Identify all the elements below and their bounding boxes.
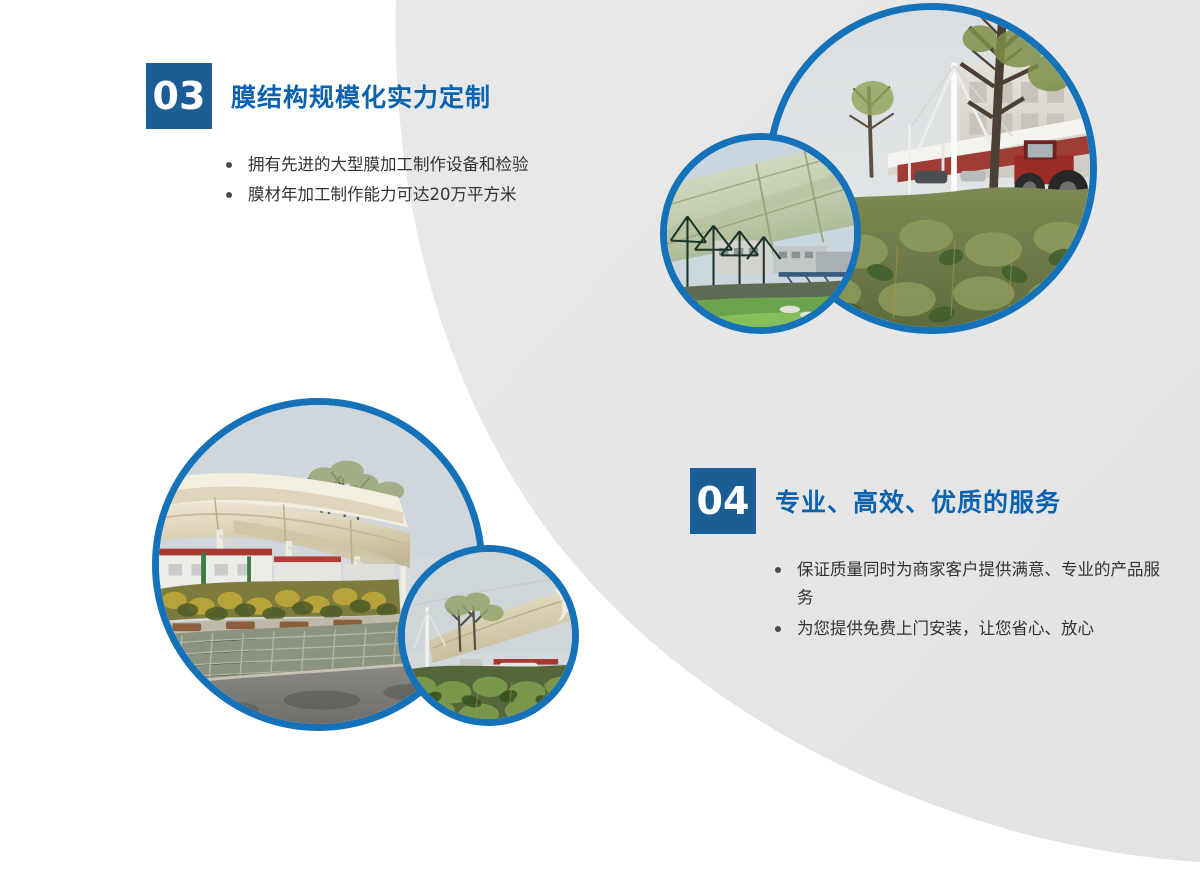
section-04-title: 专业、高效、优质的服务 bbox=[775, 483, 1061, 519]
bullet-dot-icon bbox=[775, 626, 781, 632]
section-03-header: 03 膜结构规模化实力定制 bbox=[146, 63, 616, 129]
bullet-dot-icon bbox=[775, 567, 781, 573]
section-03-number-badge: 03 bbox=[146, 63, 212, 129]
bullet-dot-icon bbox=[226, 192, 232, 198]
list-item: 为您提供免费上门安装，让您省心、放心 bbox=[775, 615, 1160, 643]
section-04-number-badge: 04 bbox=[690, 468, 756, 534]
list-item: 膜材年加工制作能力可达20万平方米 bbox=[226, 181, 616, 209]
list-item: 拥有先进的大型膜加工制作设备和检验 bbox=[226, 151, 616, 179]
list-item-text: 拥有先进的大型膜加工制作设备和检验 bbox=[248, 155, 529, 174]
section-04: 04 专业、高效、优质的服务 保证质量同时为商家客户提供满意、专业的产品服务 为… bbox=[690, 468, 1160, 645]
section-04-header: 04 专业、高效、优质的服务 bbox=[690, 468, 1160, 534]
poster-canvas: 03 膜结构规模化实力定制 拥有先进的大型膜加工制作设备和检验 膜材年加工制作能… bbox=[0, 0, 1200, 885]
list-item-text: 膜材年加工制作能力可达20万平方米 bbox=[248, 185, 517, 204]
photo-membrane-awning-roadside bbox=[398, 545, 579, 726]
list-item-text: 保证质量同时为商家客户提供满意、专业的产品服务 bbox=[797, 560, 1160, 607]
photo-membrane-canopy-green-field bbox=[660, 133, 861, 334]
section-03: 03 膜结构规模化实力定制 拥有先进的大型膜加工制作设备和检验 膜材年加工制作能… bbox=[146, 63, 616, 212]
list-item: 保证质量同时为商家客户提供满意、专业的产品服务 bbox=[775, 556, 1160, 613]
section-04-bullet-list: 保证质量同时为商家客户提供满意、专业的产品服务 为您提供免费上门安装，让您省心、… bbox=[775, 556, 1160, 643]
section-03-title: 膜结构规模化实力定制 bbox=[231, 78, 491, 114]
list-item-text: 为您提供免费上门安装，让您省心、放心 bbox=[797, 619, 1094, 638]
section-03-bullet-list: 拥有先进的大型膜加工制作设备和检验 膜材年加工制作能力可达20万平方米 bbox=[226, 151, 616, 210]
bullet-dot-icon bbox=[226, 162, 232, 168]
